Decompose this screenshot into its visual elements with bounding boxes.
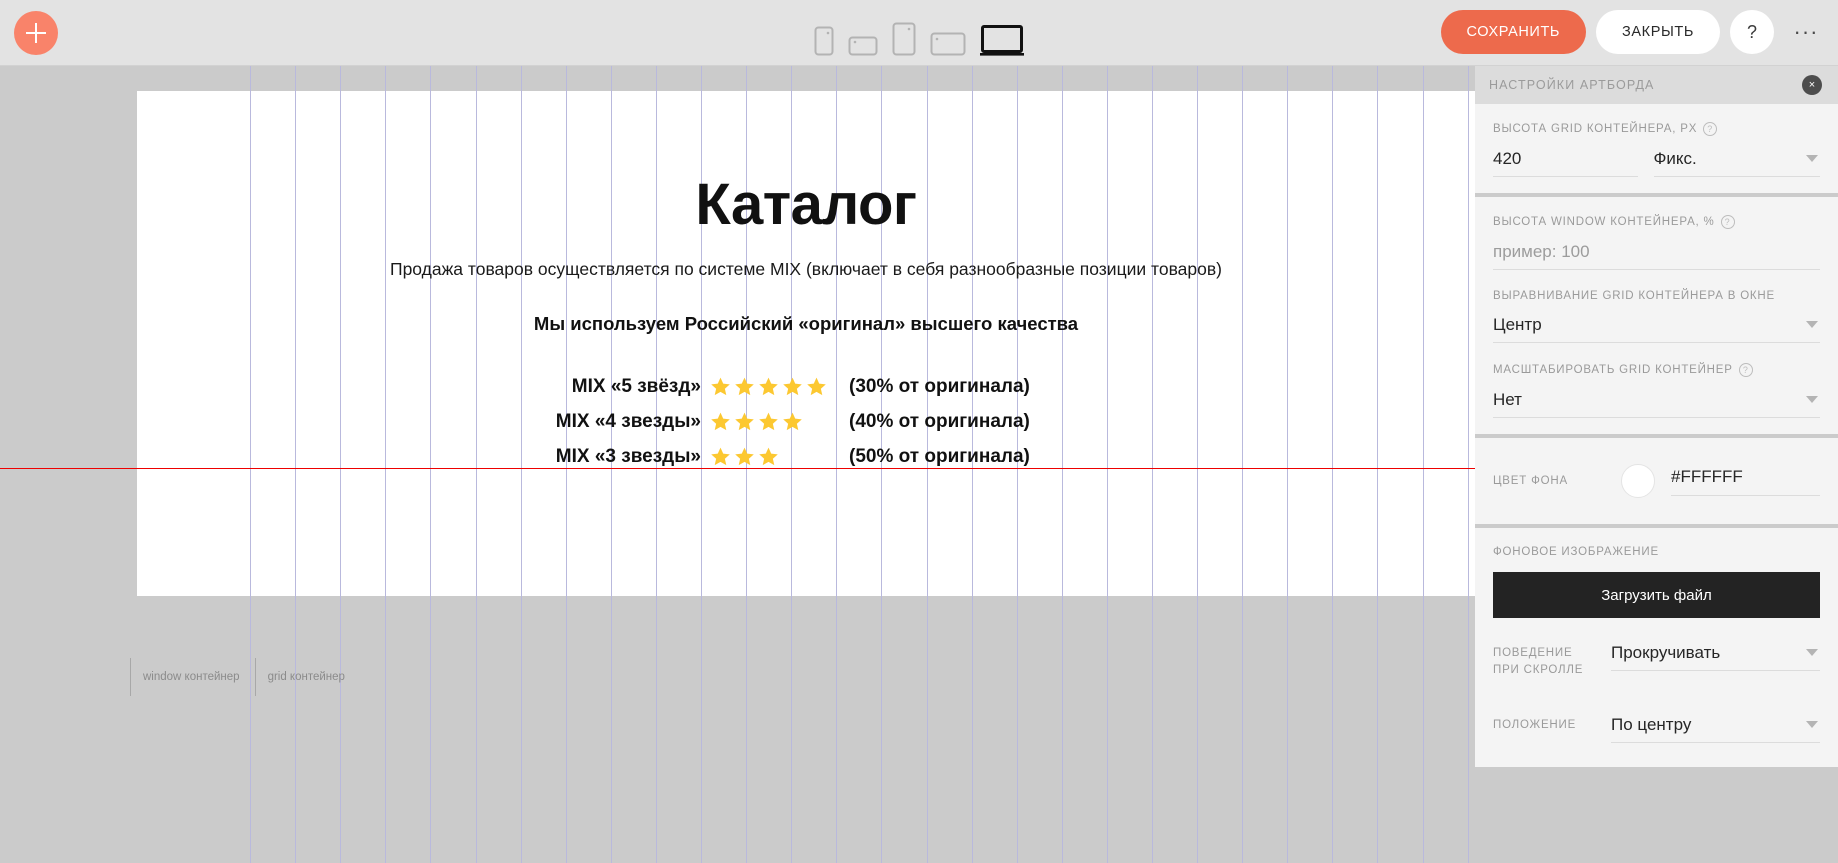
star-icon (710, 446, 731, 467)
star-icon (734, 446, 755, 467)
mix-rating-name: MIX «4 звезды» (533, 411, 701, 433)
position-select[interactable]: По центру (1611, 712, 1820, 743)
scroll-behavior-row: ПОВЕДЕНИЕ ПРИ СКРОЛЛЕ Прокручивать (1493, 640, 1820, 678)
grid-height-controls: 420 Фикс. (1493, 146, 1820, 177)
grid-height-input[interactable]: 420 (1493, 146, 1638, 177)
panel-body: ВЫСОТА GRID КОНТЕЙНЕРА, PX ? 420 Фикс. В… (1475, 104, 1838, 863)
subtitle-primary: Продажа товаров осуществляется по систем… (137, 259, 1475, 280)
mix-rating-row: MIX «4 звезды»(40% от оригинала) (137, 404, 1475, 439)
help-icon[interactable]: ? (1703, 122, 1717, 136)
help-button[interactable]: ? (1730, 10, 1774, 54)
star-rating (710, 411, 840, 432)
grid-container-label: grid контейнер (255, 671, 345, 683)
top-toolbar: СОХРАНИТЬ ЗАКРЫТЬ ? ··· (0, 0, 1838, 66)
panel-header: НАСТРОЙКИ АРТБОРДА × (1475, 66, 1838, 104)
mix-rating-percent: (40% от оригинала) (849, 411, 1079, 433)
alignment-label: ВЫРАВНИВАНИЕ GRID КОНТЕЙНЕРА В ОКНЕ (1493, 290, 1820, 302)
background-color-row: ЦВЕТ ФОНА #FFFFFF (1493, 464, 1820, 498)
mix-rating-name: MIX «3 звезды» (533, 446, 701, 468)
star-rating (710, 446, 840, 467)
star-icon (782, 411, 803, 432)
scale-group: МАСШТАБИРОВАТЬ GRID КОНТЕЙНЕР ? Нет (1493, 363, 1820, 418)
star-icon (782, 376, 803, 397)
position-label: ПОЛОЖЕНИЕ (1493, 712, 1597, 734)
add-block-button[interactable] (14, 11, 58, 55)
star-icon (758, 376, 779, 397)
window-container-label: window контейнер (130, 671, 240, 683)
help-icon[interactable]: ? (1739, 363, 1753, 377)
star-icon (758, 446, 779, 467)
scroll-behavior-value: Прокручивать (1611, 643, 1720, 662)
artboard-content: Каталог Продажа товаров осуществляется п… (137, 91, 1475, 596)
background-color-label: ЦВЕТ ФОНА (1493, 475, 1621, 487)
star-icon (710, 376, 731, 397)
device-desktop-icon[interactable] (980, 10, 1024, 56)
mix-rating-row: MIX «5 звёзд»(30% от оригинала) (137, 369, 1475, 404)
star-rating (710, 376, 840, 397)
artboard-settings-panel: НАСТРОЙКИ АРТБОРДА × ВЫСОТА GRID КОНТЕЙН… (1475, 66, 1838, 863)
chevron-down-icon (1806, 396, 1818, 403)
window-height-label-text: ВЫСОТА WINDOW КОНТЕЙНЕРА, % (1493, 216, 1715, 228)
page-title: Каталог (137, 171, 1475, 238)
artboard[interactable]: Каталог Продажа товаров осуществляется п… (137, 91, 1475, 596)
position-value: По центру (1611, 715, 1691, 734)
scroll-behavior-label: ПОВЕДЕНИЕ ПРИ СКРОЛЛЕ (1493, 640, 1597, 678)
position-row: ПОЛОЖЕНИЕ По центру (1493, 712, 1820, 743)
close-button[interactable]: ЗАКРЫТЬ (1596, 10, 1720, 54)
device-phone-landscape-icon[interactable] (848, 10, 878, 56)
star-icon (710, 411, 731, 432)
color-swatch[interactable] (1621, 464, 1655, 498)
grid-height-label: ВЫСОТА GRID КОНТЕЙНЕРА, PX ? (1493, 122, 1820, 136)
alignment-group: ВЫРАВНИВАНИЕ GRID КОНТЕЙНЕРА В ОКНЕ Цент… (1493, 290, 1820, 343)
grid-height-label-text: ВЫСОТА GRID КОНТЕЙНЕРА, PX (1493, 123, 1697, 135)
chevron-down-icon (1806, 649, 1818, 656)
scale-label-text: МАСШТАБИРОВАТЬ GRID КОНТЕЙНЕР (1493, 364, 1733, 376)
alignment-label-text: ВЫРАВНИВАНИЕ GRID КОНТЕЙНЕРА В ОКНЕ (1493, 290, 1775, 302)
device-tablet-landscape-icon[interactable] (930, 10, 966, 56)
background-image-label: ФОНОВОЕ ИЗОБРАЖЕНИЕ (1493, 546, 1820, 558)
section-window-height: ВЫСОТА WINDOW КОНТЕЙНЕРА, % ? пример: 10… (1475, 197, 1838, 434)
chevron-down-icon (1806, 321, 1818, 328)
scale-label: МАСШТАБИРОВАТЬ GRID КОНТЕЙНЕР ? (1493, 363, 1820, 377)
device-preview-switcher (814, 10, 1024, 56)
device-tablet-portrait-icon[interactable] (892, 10, 916, 56)
mix-rating-list: MIX «5 звёзд»(30% от оригинала)MIX «4 зв… (137, 369, 1475, 474)
toolbar-actions: СОХРАНИТЬ ЗАКРЫТЬ ? ··· (1441, 10, 1828, 54)
scroll-behavior-select[interactable]: Прокручивать (1611, 640, 1820, 671)
save-button[interactable]: СОХРАНИТЬ (1441, 10, 1587, 54)
chevron-down-icon (1806, 721, 1818, 728)
section-background-color: ЦВЕТ ФОНА #FFFFFF (1475, 438, 1838, 524)
background-color-input[interactable]: #FFFFFF (1671, 467, 1820, 496)
mix-rating-percent: (30% от оригинала) (849, 376, 1079, 398)
window-height-label: ВЫСОТА WINDOW КОНТЕЙНЕРА, % ? (1493, 215, 1820, 229)
grid-height-mode-select[interactable]: Фикс. (1654, 146, 1821, 177)
mix-rating-percent: (50% от оригинала) (849, 446, 1079, 468)
help-icon[interactable]: ? (1721, 215, 1735, 229)
horizontal-guide-line[interactable] (0, 468, 1475, 469)
device-phone-portrait-icon[interactable] (814, 10, 834, 56)
section-background-image: ФОНОВОЕ ИЗОБРАЖЕНИЕ Загрузить файл ПОВЕД… (1475, 528, 1838, 767)
panel-title: НАСТРОЙКИ АРТБОРДА (1489, 78, 1655, 92)
alignment-select[interactable]: Центр (1493, 312, 1820, 343)
container-labels: window контейнер grid контейнер (130, 671, 345, 683)
close-icon[interactable]: × (1802, 75, 1822, 95)
more-options-button[interactable]: ··· (1784, 10, 1828, 54)
scale-select[interactable]: Нет (1493, 387, 1820, 418)
mix-rating-name: MIX «5 звёзд» (533, 376, 701, 398)
app-root: СОХРАНИТЬ ЗАКРЫТЬ ? ··· Каталог Продажа … (0, 0, 1838, 863)
subtitle-secondary: Мы используем Российский «оригинал» высш… (137, 313, 1475, 335)
star-icon (758, 411, 779, 432)
alignment-value: Центр (1493, 315, 1542, 334)
scale-value: Нет (1493, 390, 1522, 409)
section-grid-height: ВЫСОТА GRID КОНТЕЙНЕРА, PX ? 420 Фикс. (1475, 104, 1838, 193)
window-height-input[interactable]: пример: 100 (1493, 239, 1820, 270)
star-icon (734, 411, 755, 432)
chevron-down-icon (1806, 155, 1818, 162)
grid-height-mode-value: Фикс. (1654, 149, 1697, 168)
star-icon (806, 376, 827, 397)
upload-file-button[interactable]: Загрузить файл (1493, 572, 1820, 618)
star-icon (734, 376, 755, 397)
